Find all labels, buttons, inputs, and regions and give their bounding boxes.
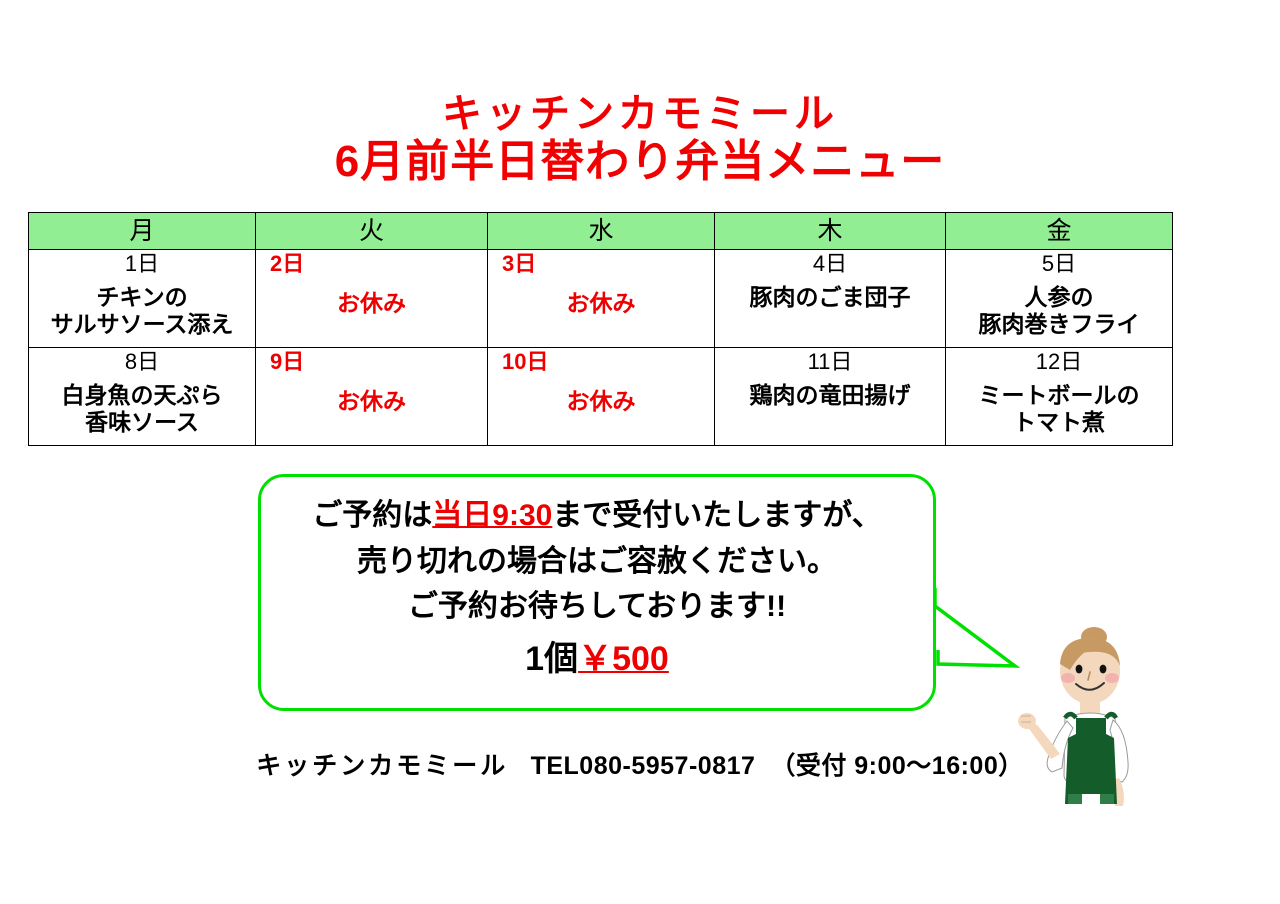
menu-cell-day-2: 2日 お休み (256, 250, 488, 348)
left-eye (1076, 665, 1083, 674)
day-label: 10日 (488, 348, 714, 376)
dish-label: チキンの サルサソース添え (29, 284, 255, 338)
menu-cell-day-10: 10日 お休み (488, 348, 715, 446)
dish-label: 豚肉のごま団子 (715, 284, 945, 311)
day-label: 11日 (715, 348, 945, 376)
day-label: 9日 (256, 348, 487, 376)
price-highlight: ￥500 (578, 640, 669, 678)
menu-cell-day-1: 1日 チキンの サルサソース添え (29, 250, 256, 348)
left-cheek (1061, 673, 1075, 683)
dish-label: お休み (256, 290, 487, 317)
reservation-speech-bubble: ご予約は当日9:30まで受付いたしますが、 売り切れの場合はご容赦ください。 ご… (258, 474, 936, 711)
bubble-line-1-prefix: ご予約は (312, 499, 432, 532)
title-line-menu: 6月前半日替わり弁当メニュー (0, 137, 1280, 186)
menu-cell-day-9: 9日 お休み (256, 348, 488, 446)
footer-telephone: TEL080-5957-0817 (531, 752, 756, 780)
day-label: 12日 (946, 348, 1172, 376)
day-label: 1日 (29, 250, 255, 278)
cutoff-time-highlight: 当日9:30 (432, 499, 552, 532)
menu-table: 月 火 水 木 金 1日 チキンの サルサソース添え 2日 お休み 3日 お休み… (28, 212, 1173, 446)
column-header-mon: 月 (29, 213, 256, 250)
table-header-row: 月 火 水 木 金 (29, 213, 1173, 250)
dish-label: ミートボールの トマト煮 (946, 382, 1172, 436)
apron-hem-left (1068, 794, 1082, 804)
menu-cell-day-3: 3日 お休み (488, 250, 715, 348)
menu-cell-day-12: 12日 ミートボールの トマト煮 (946, 348, 1173, 446)
day-label: 4日 (715, 250, 945, 278)
dish-label: 鶏肉の竜田揚げ (715, 382, 945, 409)
table-row: 8日 白身魚の天ぷら 香味ソース 9日 お休み 10日 お休み 11日 鶏肉の竜… (29, 348, 1173, 446)
bubble-line-1-suffix: まで受付いたしますが、 (552, 499, 881, 532)
neck (1080, 698, 1100, 714)
dish-label: 人参の 豚肉巻きフライ (946, 284, 1172, 338)
bubble-line-3: ご予約お待ちしております!! (261, 584, 933, 630)
bubble-line-1: ご予約は当日9:30まで受付いたしますが、 (261, 493, 933, 539)
column-header-fri: 金 (946, 213, 1173, 250)
dish-label: お休み (488, 388, 714, 415)
column-header-wed: 水 (488, 213, 715, 250)
title-line-shop: キッチンカモミール (0, 92, 1280, 137)
bubble-line-price: 1個￥500 (261, 634, 933, 686)
day-label: 8日 (29, 348, 255, 376)
menu-cell-day-5: 5日 人参の 豚肉巻きフライ (946, 250, 1173, 348)
staff-character-illustration (1018, 626, 1168, 836)
price-prefix: 1個 (525, 640, 578, 678)
footer-shop-name: キッチンカモミール (256, 752, 508, 780)
day-label: 5日 (946, 250, 1172, 278)
menu-cell-day-8: 8日 白身魚の天ぷら 香味ソース (29, 348, 256, 446)
bubble-line-2: 売り切れの場合はご容赦ください。 (261, 539, 933, 585)
day-label: 2日 (256, 250, 487, 278)
column-header-thu: 木 (715, 213, 946, 250)
column-header-tue: 火 (256, 213, 488, 250)
right-eye (1100, 665, 1107, 674)
menu-cell-day-11: 11日 鶏肉の竜田揚げ (715, 348, 946, 446)
dish-label: お休み (256, 388, 487, 415)
menu-cell-day-4: 4日 豚肉のごま団子 (715, 250, 946, 348)
apron-hem-right (1100, 794, 1114, 804)
bubble-text: ご予約は当日9:30まで受付いたしますが、 売り切れの場合はご容赦ください。 ご… (261, 477, 933, 685)
table-row: 1日 チキンの サルサソース添え 2日 お休み 3日 お休み 4日 豚肉のごま団… (29, 250, 1173, 348)
dish-label: 白身魚の天ぷら 香味ソース (29, 382, 255, 436)
dish-label: お休み (488, 290, 714, 317)
right-cheek (1105, 673, 1119, 683)
footer-hours: （受付 9:00〜16:00） (770, 752, 1023, 780)
page-title: キッチンカモミール 6月前半日替わり弁当メニュー (0, 92, 1280, 186)
day-label: 3日 (488, 250, 714, 278)
